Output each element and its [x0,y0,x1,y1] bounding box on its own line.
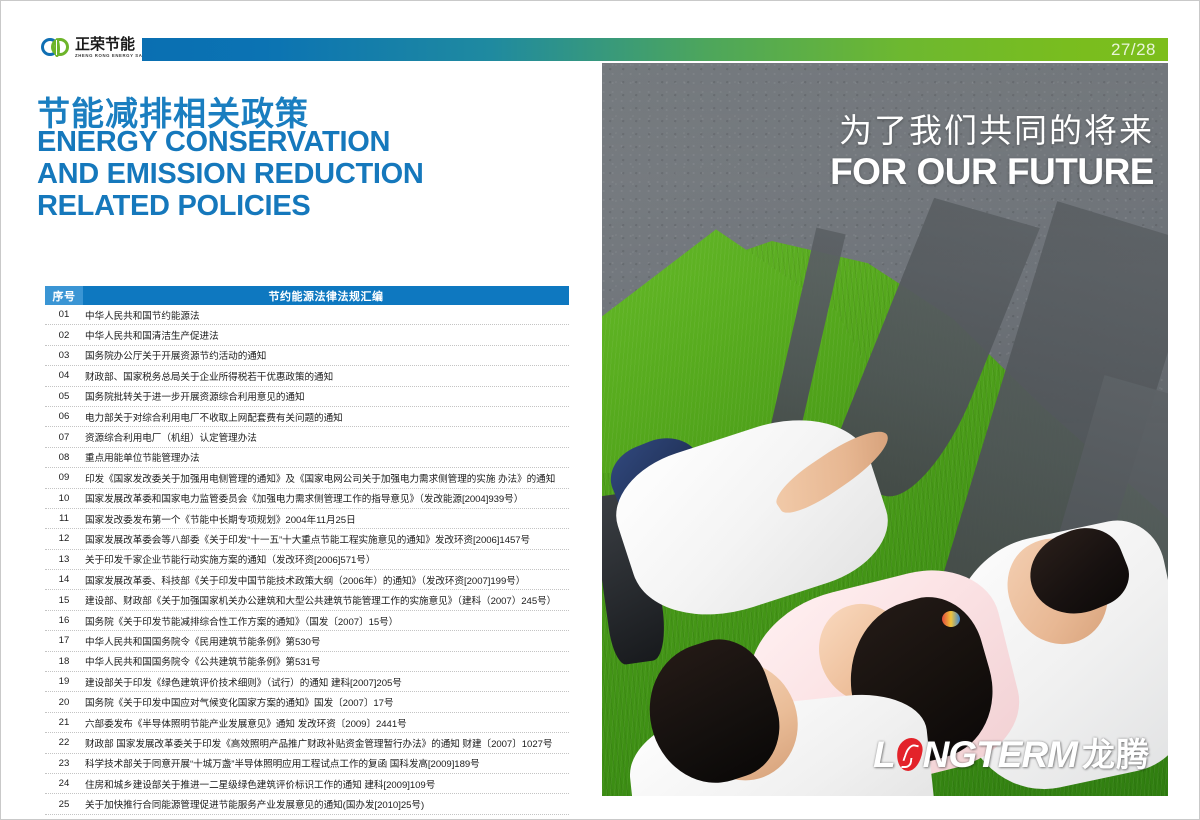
table-row: 15建设部、财政部《关于加强国家机关办公建筑和大型公共建筑节能管理工作的实施意见… [45,590,569,610]
table-cell-no: 08 [45,452,83,463]
dragon-glyph [894,738,924,771]
table-cell-title: 科学技术部关于同意开展“十城万盏”半导体照明应用工程试点工作的复函 国科发高[2… [83,756,569,770]
table-row: 24住房和城乡建设部关于推进一二星级绿色建筑评价标识工作的通知 建科[2009]… [45,774,569,794]
table-row: 23科学技术部关于同意开展“十城万盏”半导体照明应用工程试点工作的复函 国科发高… [45,754,569,774]
table-header-no: 序号 [45,286,83,305]
table-row: 22财政部 国家发展改革委关于印发《高效照明产品推广财政补贴资金管理暂行办法》的… [45,733,569,753]
header-gradient-bar: 27/28 [142,38,1168,61]
table-cell-no: 23 [45,758,83,769]
dragon-icon [894,736,924,773]
table-row: 18中华人民共和国国务院令《公共建筑节能条例》第531号 [45,652,569,672]
table-cell-no: 19 [45,676,83,687]
table-cell-title: 关于加快推行合同能源管理促进节能服务产业发展意见的通知(国办发[2010]25号… [83,797,569,811]
table-cell-title: 国务院办公厅关于开展资源节约活动的通知 [83,348,569,362]
photo-headline-en: FOR OUR FUTURE [714,152,1154,193]
table-cell-title: 国家发展改革委、科技部《关于印发中国节能技术政策大纲（2006年）的通知》（发改… [83,573,569,587]
table-row: 05国务院批转关于进一步开展资源综合利用意见的通知 [45,387,569,407]
table-cell-title: 中华人民共和国国务院令《民用建筑节能条例》第530号 [83,634,569,648]
table-cell-no: 01 [45,309,83,320]
table-row: 25关于加快推行合同能源管理促进节能服务产业发展意见的通知(国办发[2010]2… [45,794,569,814]
company-logo: 正荣节能 ZHENG RONG ENERGY SAVING [41,32,141,64]
table-header-row: 序号 节约能源法律法规汇编 [45,286,569,305]
table-cell-no: 12 [45,533,83,544]
hero-photo: 为了我们共同的将来 FOR OUR FUTURE L NGTERM 龙腾 [602,63,1168,796]
company-logo-icon [41,34,71,62]
table-row: 11国家发改委发布第一个《节能中长期专项规划》2004年11月25日 [45,509,569,529]
photo-headline-cn: 为了我们共同的将来 [714,112,1154,150]
table-cell-title: 建设部、财政部《关于加强国家机关办公建筑和大型公共建筑节能管理工作的实施意见》（… [83,593,569,607]
table-row: 02中华人民共和国清洁生产促进法 [45,325,569,345]
table-cell-no: 18 [45,656,83,667]
table-cell-no: 07 [45,432,83,443]
table-cell-title: 财政部、国家税务总局关于企业所得税若干优惠政策的通知 [83,369,569,383]
table-cell-title: 国务院批转关于进一步开展资源综合利用意见的通知 [83,389,569,403]
table-cell-title: 住房和城乡建设部关于推进一二星级绿色建筑评价标识工作的通知 建科[2009]10… [83,777,569,791]
table-row: 21六部委发布《半导体照明节能产业发展意见》通知 发改环资〔2009〕2441号 [45,713,569,733]
table-cell-no: 24 [45,778,83,789]
brand-name-en: NGTERM [923,736,1077,773]
table-cell-no: 09 [45,472,83,483]
table-row: 20国务院《关于印发中国应对气候变化国家方案的通知》国发〔2007〕17号 [45,692,569,712]
table-body: 01中华人民共和国节约能源法02中华人民共和国清洁生产促进法03国务院办公厅关于… [45,305,569,820]
table-cell-title: 关于印发千家企业节能行动实施方案的通知（发改环资[2006]571号） [83,552,569,566]
table-row: 03国务院办公厅关于开展资源节约活动的通知 [45,346,569,366]
page-title-en-line1: ENERGY CONSERVATION [37,127,424,159]
logo-wheat-leaf-icon [54,38,60,57]
table-row: 14国家发展改革委、科技部《关于印发中国节能技术政策大纲（2006年）的通知》（… [45,570,569,590]
brochure-page: 正荣节能 ZHENG RONG ENERGY SAVING 27/28 科学用能… [0,0,1200,820]
table-cell-title: 印发《国家发改委关于加强用电侧管理的通知》及《国家电网公司关于加强电力需求侧管理… [83,471,569,485]
table-row: 10国家发展改革委和国家电力监管委员会《加强电力需求侧管理工作的指导意见》（发改… [45,489,569,509]
table-cell-no: 03 [45,350,83,361]
policy-table: 序号 节约能源法律法规汇编 01中华人民共和国节约能源法02中华人民共和国清洁生… [45,286,569,820]
table-cell-title: 电力部关于对综合利用电厂不收取上网配套费有关问题的通知 [83,410,569,424]
table-cell-title: 国务院《关于印发中国应对气候变化国家方案的通知》国发〔2007〕17号 [83,695,569,709]
table-cell-title: 国家发展改革委和国家电力监管委员会《加强电力需求侧管理工作的指导意见》（发改能源… [83,491,569,505]
table-row: 12国家发展改革委会等八部委《关于印发“十一五”十大重点节能工程实施意见的通知》… [45,529,569,549]
table-row: 19建设部关于印发《绿色建筑评价技术细则》（试行）的通知 建科[2007]205… [45,672,569,692]
table-cell-no: 21 [45,717,83,728]
table-cell-no: 25 [45,799,83,810]
table-row: 08重点用能单位节能管理办法 [45,448,569,468]
table-cell-no: 14 [45,574,83,585]
table-cell-title: 建设部关于印发《绿色建筑评价技术细则》（试行）的通知 建科[2007]205号 [83,675,569,689]
table-cell-title: 财政部 国家发展改革委关于印发《高效照明产品推广财政补贴资金管理暂行办法》的通知… [83,736,569,750]
table-cell-title: 中华人民共和国国务院令《公共建筑节能条例》第531号 [83,654,569,668]
longterm-brand-logo: L NGTERM 龙腾 [873,734,1150,774]
table-row: 09印发《国家发改委关于加强用电侧管理的通知》及《国家电网公司关于加强电力需求侧… [45,468,569,488]
page-title-en-line2: AND EMISSION REDUCTION [37,159,424,191]
table-cell-no: 13 [45,554,83,565]
page-title-en-line3: RELATED POLICIES [37,191,424,223]
table-cell-title: 中华人民共和国节约能源法 [83,308,569,322]
brand-name-cn: 龙腾 [1082,738,1150,771]
table-cell-no: 05 [45,391,83,402]
table-cell-no: 22 [45,737,83,748]
table-row: 17中华人民共和国国务院令《民用建筑节能条例》第530号 [45,631,569,651]
table-cell-no: 04 [45,370,83,381]
table-row: 01中华人民共和国节约能源法 [45,305,569,325]
table-cell-title: 国务院《关于印发节能减排综合性工作方案的通知》（国发〔2007〕15号） [83,614,569,628]
table-row: 16国务院《关于印发节能减排综合性工作方案的通知》（国发〔2007〕15号） [45,611,569,631]
table-cell-no: 17 [45,635,83,646]
table-cell-title: 重点用能单位节能管理办法 [83,450,569,464]
table-row: 06电力部关于对综合利用电厂不收取上网配套费有关问题的通知 [45,407,569,427]
table-cell-no: 02 [45,330,83,341]
table-row: 04财政部、国家税务总局关于企业所得税若干优惠政策的通知 [45,366,569,386]
table-cell-no: 20 [45,697,83,708]
table-row: 07资源综合利用电厂（机组）认定管理办法 [45,427,569,447]
table-row: 13关于印发千家企业节能行动实施方案的通知（发改环资[2006]571号） [45,550,569,570]
table-cell-title: 六部委发布《半导体照明节能产业发展意见》通知 发改环资〔2009〕2441号 [83,716,569,730]
table-cell-title: 资源综合利用电厂（机组）认定管理办法 [83,430,569,444]
photo-girl-hair-tie [942,611,960,627]
left-content-column: 节能减排相关政策 ENERGY CONSERVATION AND EMISSIO… [1,79,601,820]
table-row: 26国家税务总局关于进一步做好税收促进节能减排工作的通知(国税函[2010]18… [45,815,569,820]
table-cell-no: 16 [45,615,83,626]
table-cell-no: 10 [45,493,83,504]
page-title-en: ENERGY CONSERVATION AND EMISSION REDUCTI… [37,127,424,223]
table-cell-no: 11 [45,513,83,524]
photo-headline: 为了我们共同的将来 FOR OUR FUTURE [714,112,1154,193]
table-cell-no: 06 [45,411,83,422]
page-number: 27/28 [1111,40,1156,60]
brand-letter-l: L [873,736,895,773]
table-cell-title: 国家发展改革委会等八部委《关于印发“十一五”十大重点节能工程实施意见的通知》发改… [83,532,569,546]
table-header-title: 节约能源法律法规汇编 [83,286,569,305]
table-cell-title: 中华人民共和国清洁生产促进法 [83,328,569,342]
table-cell-no: 15 [45,595,83,606]
table-cell-title: 国家发改委发布第一个《节能中长期专项规划》2004年11月25日 [83,512,569,526]
